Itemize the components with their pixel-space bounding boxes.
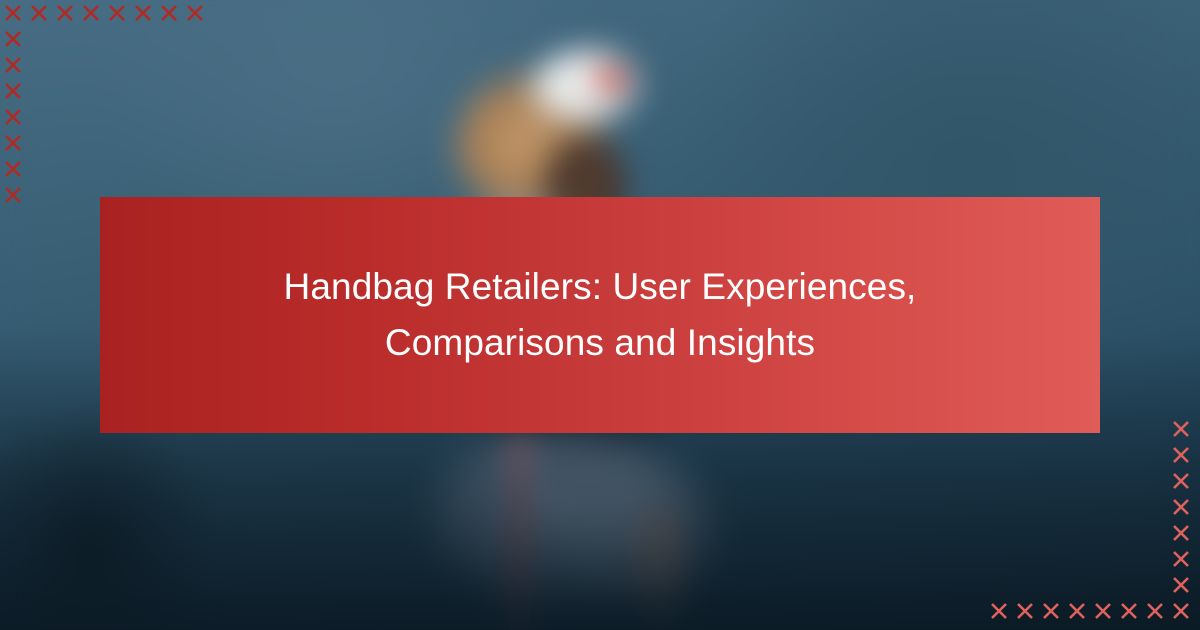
share-card: Handbag Retailers: User Experiences, Com… bbox=[0, 0, 1200, 630]
page-title: Handbag Retailers: User Experiences, Com… bbox=[270, 259, 930, 371]
title-banner: Handbag Retailers: User Experiences, Com… bbox=[100, 197, 1100, 433]
